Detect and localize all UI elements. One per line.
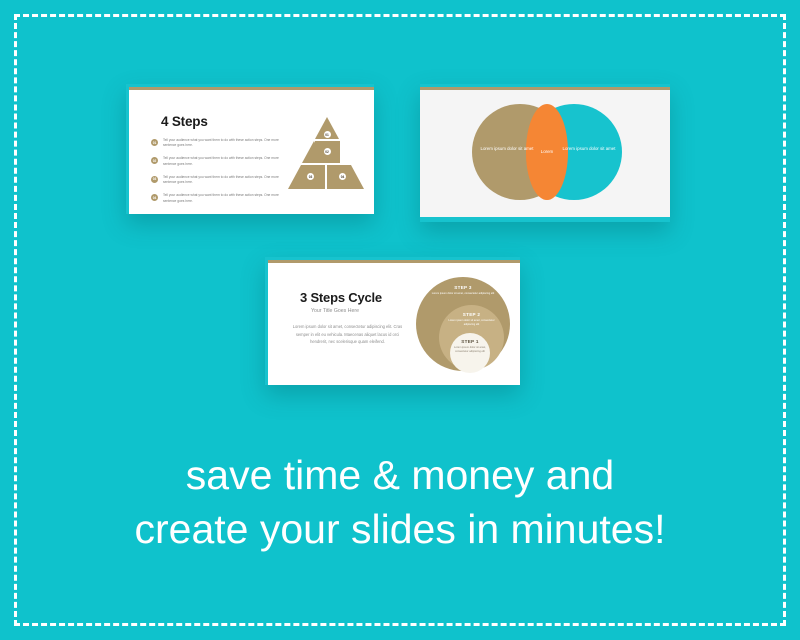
slide-cycle-content: 3 Steps Cycle Your Title Goes Here Lorem… [268,263,520,385]
concentric-cycle-diagram: STEP 3 Lorem ipsum dolor sit amet, conse… [416,277,510,371]
four-steps-list: 01 Tell your audience what you want them… [151,138,293,212]
pyramid-label-top: 01 [324,131,331,138]
cycle-ring-title: STEP 3 [454,285,472,290]
venn-label-center: Lorem [530,149,564,156]
body-paragraph: Lorem ipsum dolor sit amet, consectetur … [290,323,405,346]
slide-top-tan-bar [420,87,670,90]
list-item: 03 Tell your audience what you want them… [151,175,293,186]
step-number-badge: 04 [151,194,158,201]
pyramid-label-bottom-right: 04 [339,173,346,180]
list-item: 01 Tell your audience what you want them… [151,138,293,149]
venn-diagram: Lorem ipsum dolor sit amet Lorem Lorem i… [472,104,622,200]
step-description: Tell your audience what you want them to… [163,175,293,186]
page-title: 4 Steps [161,114,208,129]
page-title: 3 Steps Cycle [300,290,382,305]
pyramid-label-bottom-left: 03 [307,173,314,180]
cycle-ring-title: STEP 1 [461,339,479,344]
list-item: 02 Tell your audience what you want them… [151,156,293,167]
step-number-badge: 02 [151,157,158,164]
cycle-ring-text: Lorem ipsum dolor sit amet, consectetur … [428,292,498,296]
slide-bottom-teal-bar [420,217,670,222]
list-item: 04 Tell your audience what you want them… [151,193,293,204]
page-subtitle: Your Title Goes Here [311,308,359,314]
pyramid-label-middle: 02 [324,148,331,155]
slide-four-steps-content: 4 Steps 01 Tell your audience what you w… [129,90,374,214]
cycle-ring-step-1: STEP 1 Lorem ipsum dolor sit amet, conse… [450,333,490,373]
step-number-badge: 03 [151,176,158,183]
step-description: Tell your audience what you want them to… [163,138,293,149]
promo-headline: save time & money and create your slides… [0,448,800,556]
cycle-ring-title: STEP 2 [463,312,481,317]
venn-label-right: Lorem ipsum dolor sit amet [560,146,618,153]
step-description: Tell your audience what you want them to… [163,156,293,167]
step-description: Tell your audience what you want them to… [163,193,293,204]
slide-four-steps[interactable]: 4 Steps 01 Tell your audience what you w… [126,84,374,214]
slide-three-steps-cycle[interactable]: 3 Steps Cycle Your Title Goes Here Lorem… [265,257,520,385]
pyramid-tier-bottom-left-wedge [288,165,301,189]
cycle-ring-text: Lorem ipsum dolor sit amet, consectetur … [450,346,490,354]
cycle-ring-text: Lorem ipsum dolor sit amet, consectetur … [439,319,504,327]
venn-label-left: Lorem ipsum dolor sit amet [480,146,534,153]
slide-venn-diagram[interactable]: Lorem ipsum dolor sit amet Lorem Lorem i… [420,84,670,222]
step-number-badge: 01 [151,139,158,146]
headline-line-2: create your slides in minutes! [0,502,800,556]
pyramid-tier-bottom-right-wedge [351,165,364,189]
headline-line-1: save time & money and [0,448,800,502]
pyramid-diagram: 01 02 03 04 [287,117,367,193]
